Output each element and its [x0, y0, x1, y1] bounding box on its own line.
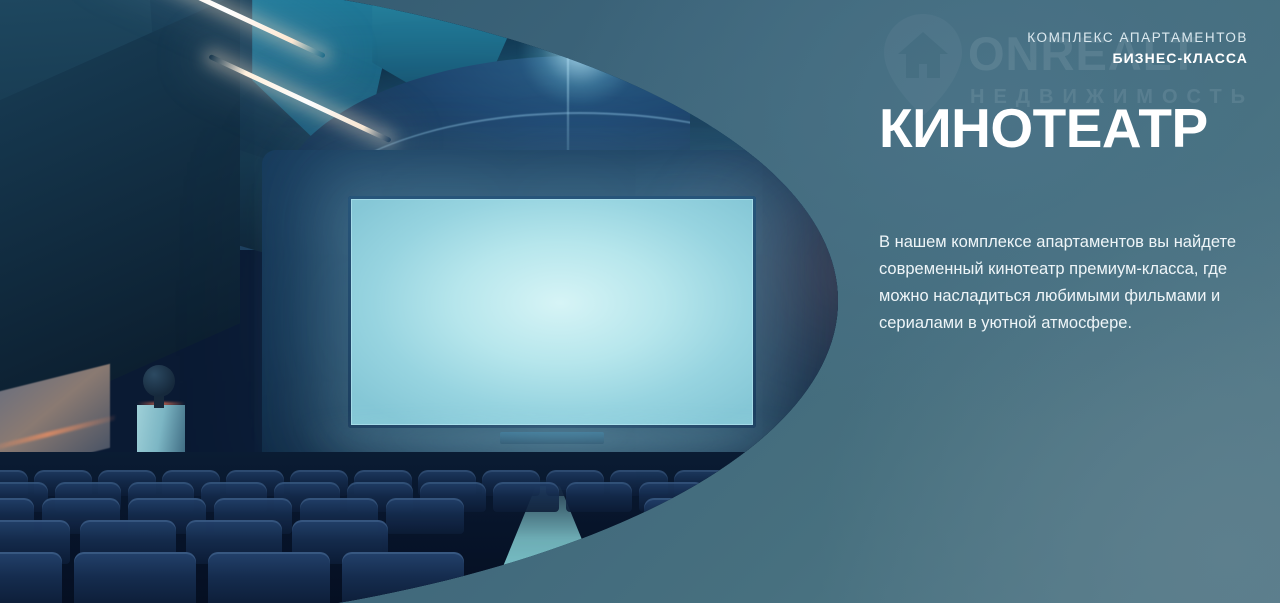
page-title: КИНОТЕАТР	[879, 101, 1208, 156]
seat	[566, 482, 632, 512]
promo-banner: ONREALT НЕДВИЖИМОСТЬ	[0, 0, 1280, 603]
seat	[386, 498, 464, 534]
seat	[74, 552, 196, 603]
seat	[493, 482, 559, 512]
cinema-screen-frame	[348, 196, 756, 428]
pedestal-sphere	[143, 365, 175, 397]
seat	[208, 552, 330, 603]
kicker-line-1: КОМПЛЕКС АПАРТАМЕНТОВ	[1027, 29, 1248, 47]
header-kicker: КОМПЛЕКС АПАРТАМЕНТОВ БИЗНЕС-КЛАССА	[1027, 29, 1248, 68]
seat	[0, 552, 62, 603]
cinema-screen	[351, 199, 753, 425]
description-text: В нашем комплексе апартаментов вы найдет…	[879, 229, 1259, 337]
kicker-line-2: БИЗНЕС-КЛАССА	[1027, 49, 1248, 68]
